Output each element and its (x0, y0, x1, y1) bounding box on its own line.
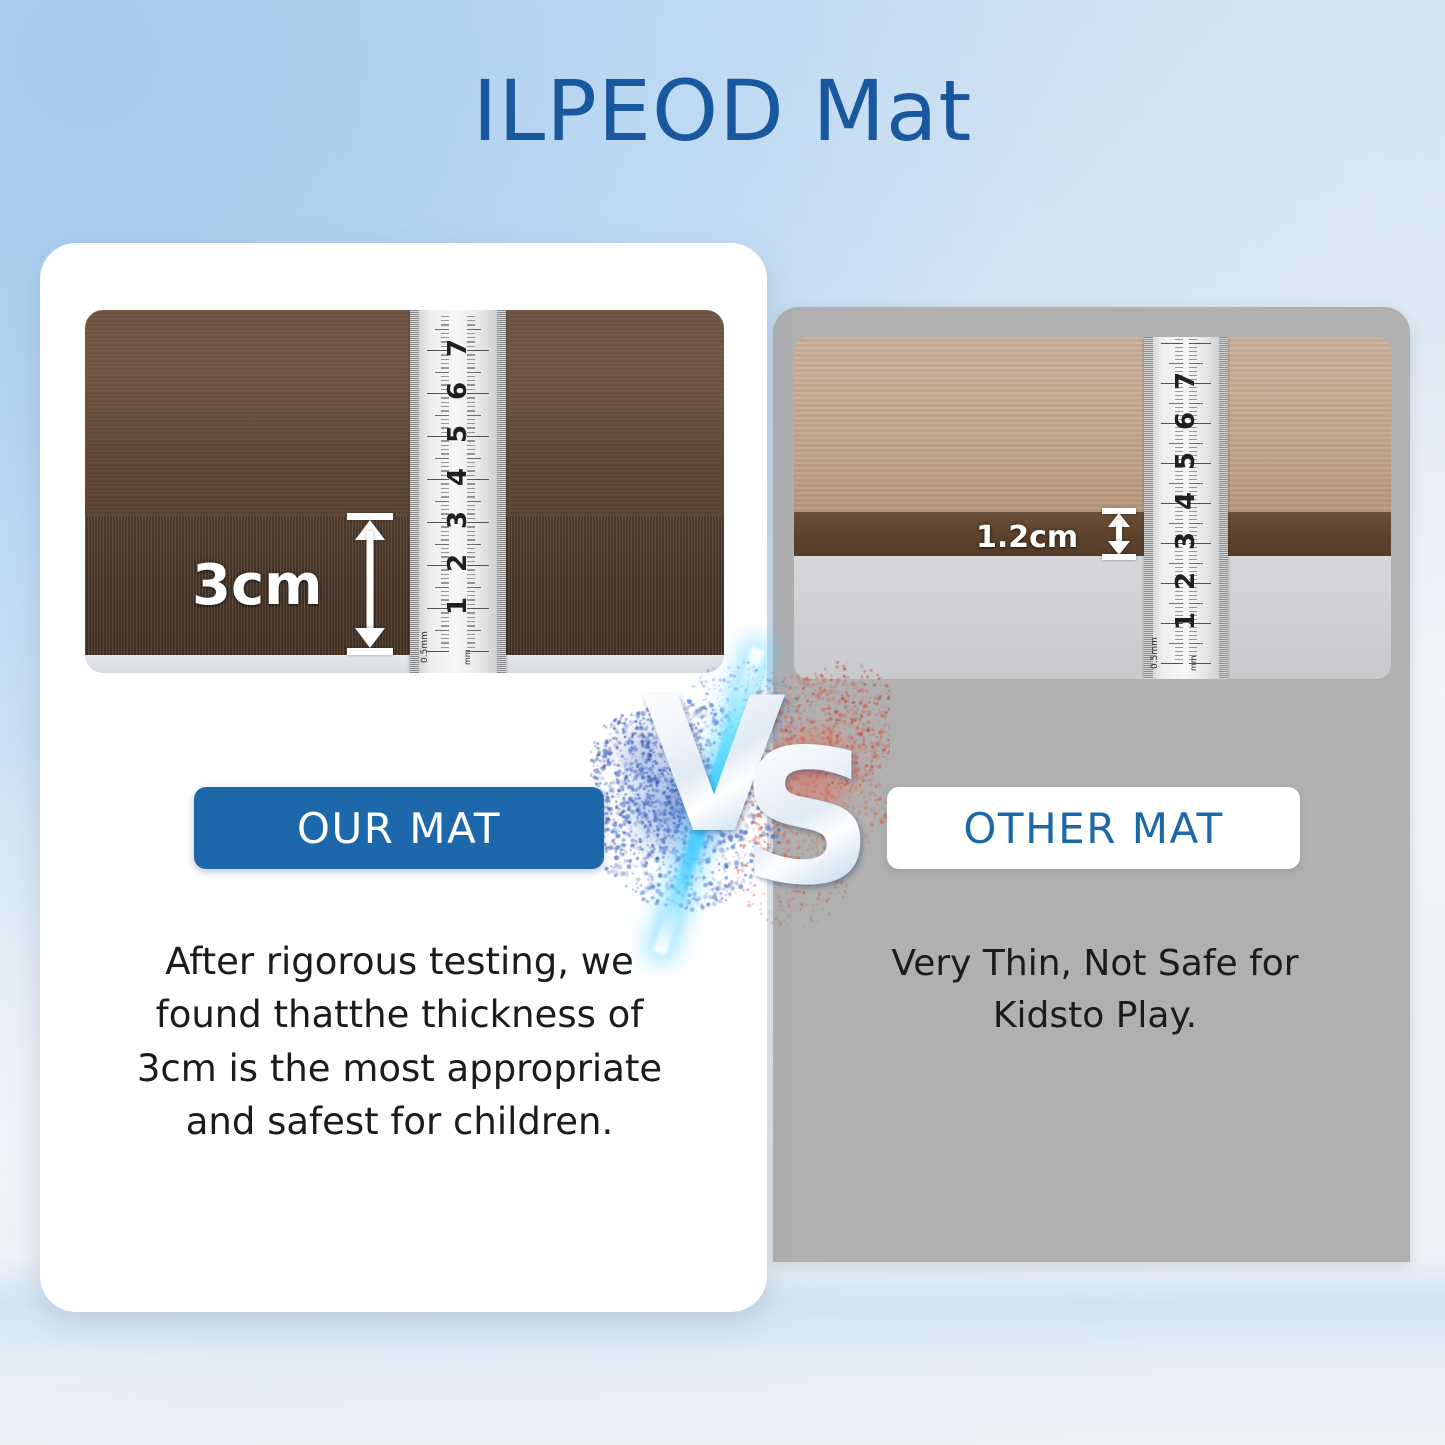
steel-ruler-icon: 1234567 0.5mm mm (410, 310, 506, 673)
mat-top-surface (85, 310, 724, 517)
measure-bar (367, 531, 374, 637)
our-mat-pill[interactable]: OUR MAT (194, 787, 604, 869)
measure-arrow-down-icon (1108, 541, 1130, 555)
our-mat-description: After rigorous testing, we found thatthe… (122, 935, 677, 1148)
ruler-unit-label: mm (463, 649, 472, 665)
measure-cap-bottom (1102, 554, 1136, 560)
ruler-precision-label: 0.5mm (1150, 637, 1160, 669)
mat-top-surface (794, 337, 1391, 512)
other-mat-pill[interactable]: OTHER MAT (887, 787, 1300, 869)
measure-arrow-down-icon (355, 628, 385, 648)
floor-surface (85, 655, 724, 673)
measure-cap-bottom (347, 648, 393, 655)
thickness-measure-3cm (330, 513, 410, 655)
ruler-edge-right (497, 310, 506, 673)
our-mat-pill-label: OUR MAT (297, 804, 501, 853)
our-mat-photo: 1234567 0.5mm mm 3cm (85, 310, 724, 673)
page-title: ILPEOD Mat (0, 62, 1445, 160)
ruler-edge-left (410, 310, 419, 673)
ruler-unit-label: mm (1189, 655, 1198, 671)
ruler-ticks-right (467, 310, 497, 673)
steel-ruler-icon: 1234567 0.5mm mm (1144, 337, 1228, 679)
ruler-ticks-left (419, 310, 449, 673)
ruler-precision-label: 0.5mm (420, 631, 430, 663)
floor-surface (794, 556, 1391, 679)
our-mat-thickness-label: 3cm (192, 553, 323, 618)
ruler-edge-right (1219, 337, 1228, 679)
thickness-measure-1-2cm (1089, 508, 1149, 560)
measure-cap-top (347, 513, 393, 520)
other-mat-description: Very Thin, Not Safe for Kidsto Play. (860, 938, 1330, 1042)
other-mat-photo: 1234567 0.5mm mm 1.2cm (794, 337, 1391, 679)
other-mat-thickness-label: 1.2cm (976, 520, 1078, 555)
infographic-canvas: ILPEOD Mat 1234567 0.5mm mm 3cm (0, 0, 1445, 1445)
other-mat-pill-label: OTHER MAT (963, 804, 1223, 853)
